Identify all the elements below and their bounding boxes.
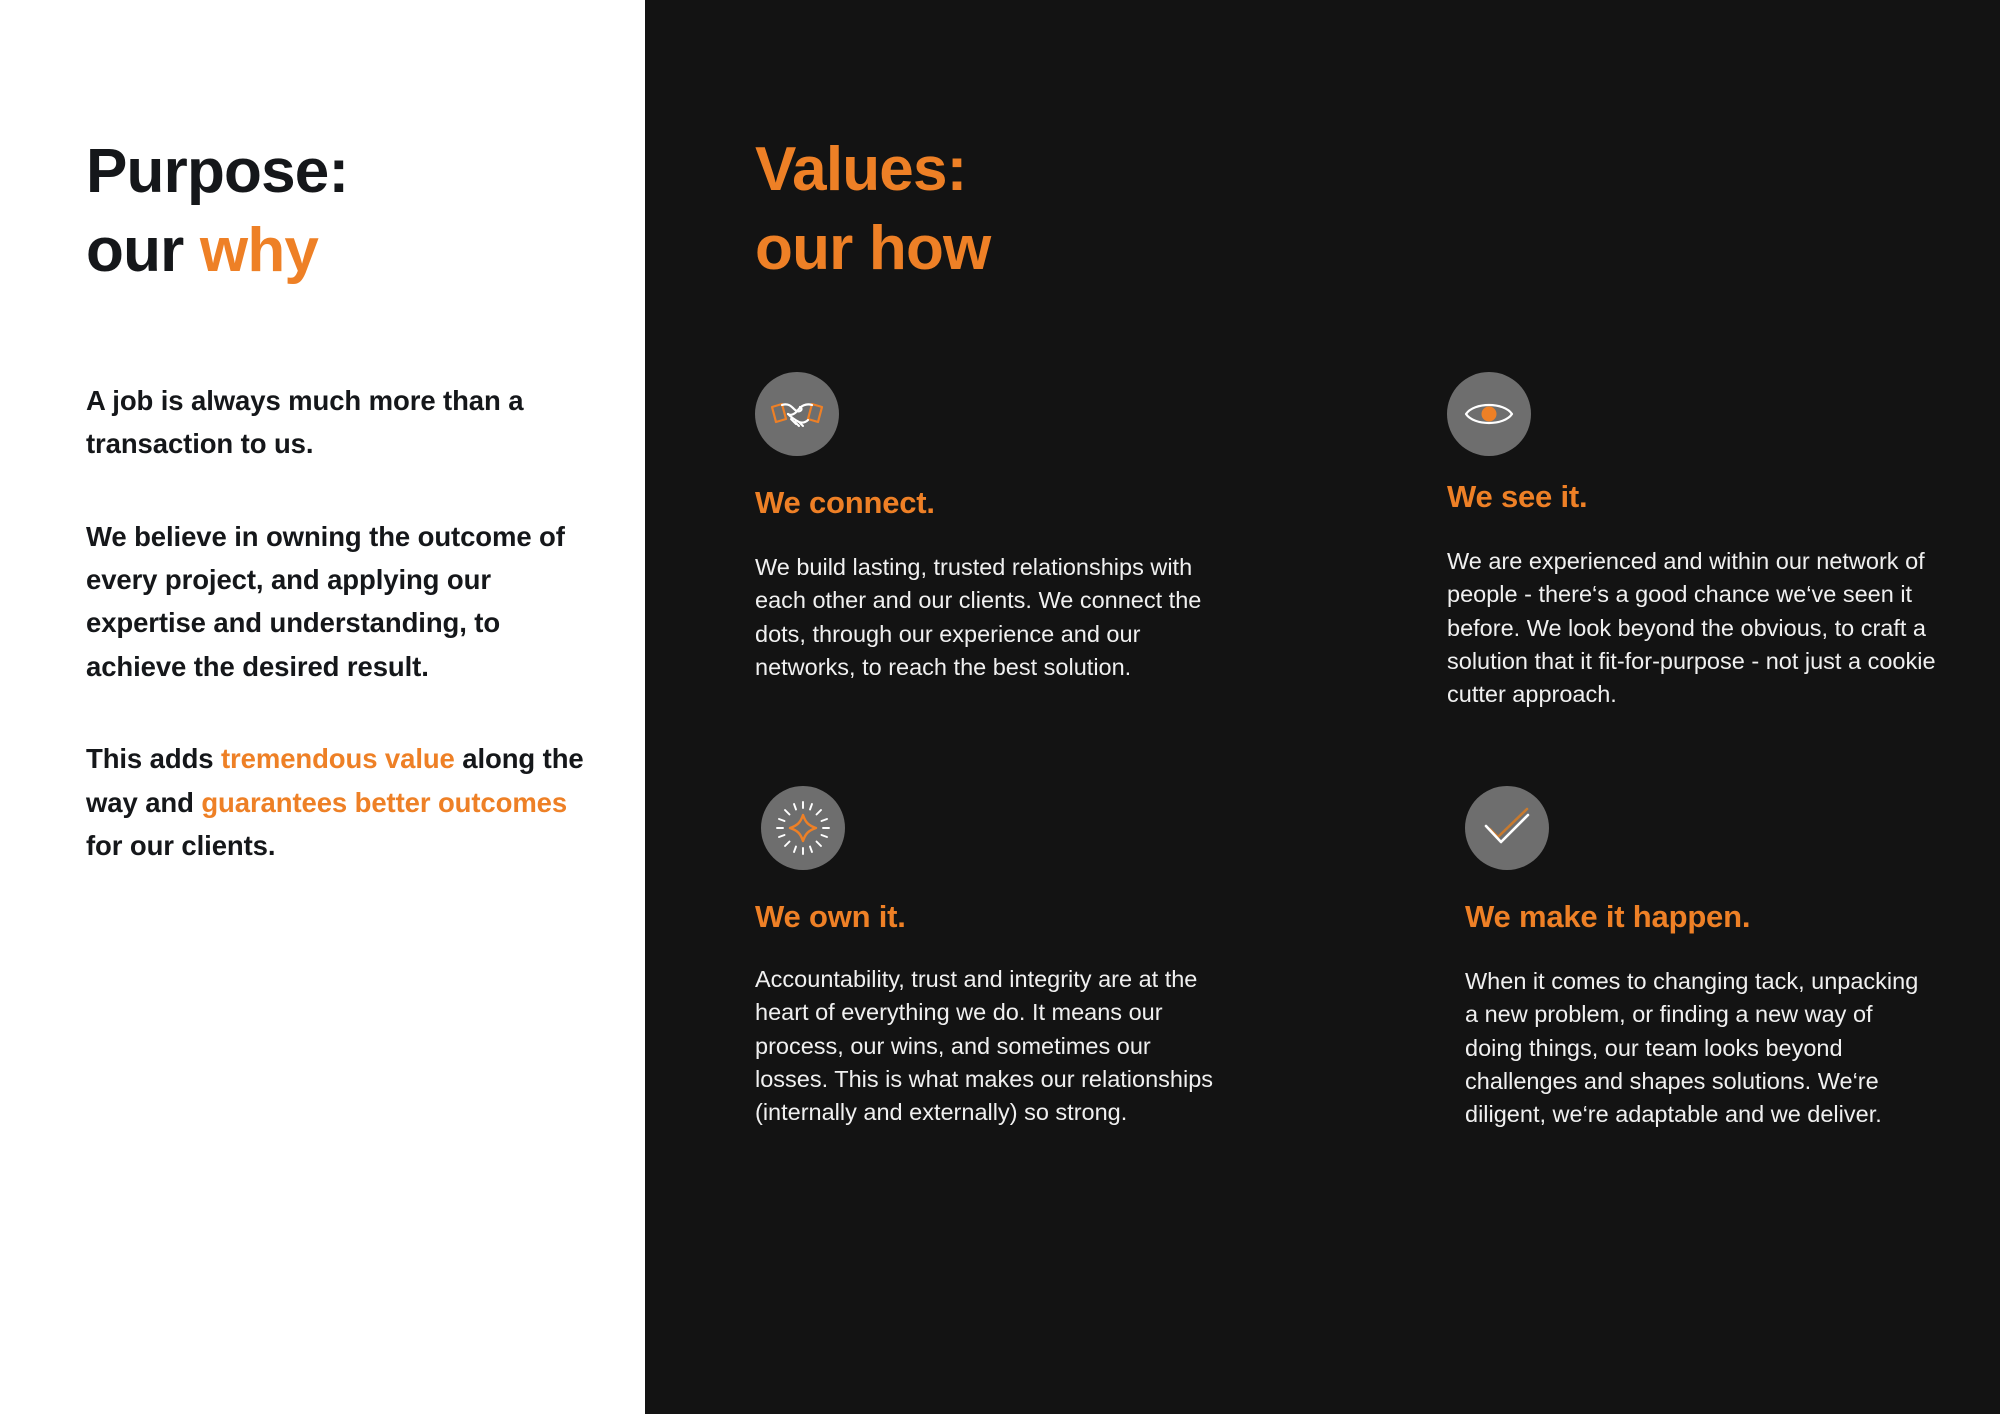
- value-text: We are experienced and within our networ…: [1447, 545, 1937, 712]
- purpose-panel: Purpose: our why A job is always much mo…: [0, 0, 645, 1414]
- purpose-p3-seg5: for our clients.: [86, 830, 275, 861]
- value-heading: We connect.: [755, 484, 1395, 521]
- purpose-title-line1: Purpose:: [86, 137, 348, 206]
- purpose-paragraph-3: This adds tremendous value along the way…: [86, 737, 586, 867]
- value-card-we-own-it: We own it. Accountability, trust and int…: [755, 786, 1395, 1132]
- value-text: When it comes to changing tack, unpackin…: [1465, 965, 1925, 1132]
- values-grid: We connect. We build lasting, trusted re…: [755, 372, 2000, 1132]
- value-heading: We own it.: [755, 898, 1395, 935]
- values-title-line2: our how: [755, 214, 990, 283]
- handshake-icon: [755, 372, 839, 456]
- value-card-we-see-it: We see it. We are experienced and within…: [1425, 372, 2000, 712]
- eye-icon: [1447, 372, 1531, 456]
- value-card-we-connect: We connect. We build lasting, trusted re…: [755, 372, 1395, 712]
- values-title-line1: Values:: [755, 135, 967, 204]
- values-panel: Values: our how: [645, 0, 2000, 1414]
- purpose-title: Purpose: our why: [86, 132, 645, 291]
- value-text: Accountability, trust and integrity are …: [755, 963, 1225, 1130]
- purpose-title-line2-accent: why: [200, 216, 318, 285]
- purpose-body: A job is always much more than a transac…: [86, 379, 586, 868]
- value-text: We build lasting, trusted relationships …: [755, 551, 1230, 684]
- value-heading: We make it happen.: [1465, 898, 2000, 935]
- double-checkmark-icon: [1465, 786, 1549, 870]
- value-card-we-make-it-happen: We make it happen. When it comes to chan…: [1425, 786, 2000, 1132]
- purpose-p3-seg1: This adds: [86, 743, 221, 774]
- purpose-paragraph-2: We believe in owning the outcome of ever…: [86, 515, 586, 689]
- purpose-p3-accent-1: tremendous value: [221, 743, 455, 774]
- purpose-title-line2-plain: our: [86, 216, 200, 285]
- values-title: Values: our how: [755, 130, 2000, 289]
- value-heading: We see it.: [1447, 478, 2000, 515]
- slide-root: Purpose: our why A job is always much mo…: [0, 0, 2000, 1414]
- purpose-paragraph-1: A job is always much more than a transac…: [86, 379, 586, 466]
- purpose-p3-accent-2: guarantees better outcomes: [201, 787, 567, 818]
- sparkle-diamond-icon: [761, 786, 845, 870]
